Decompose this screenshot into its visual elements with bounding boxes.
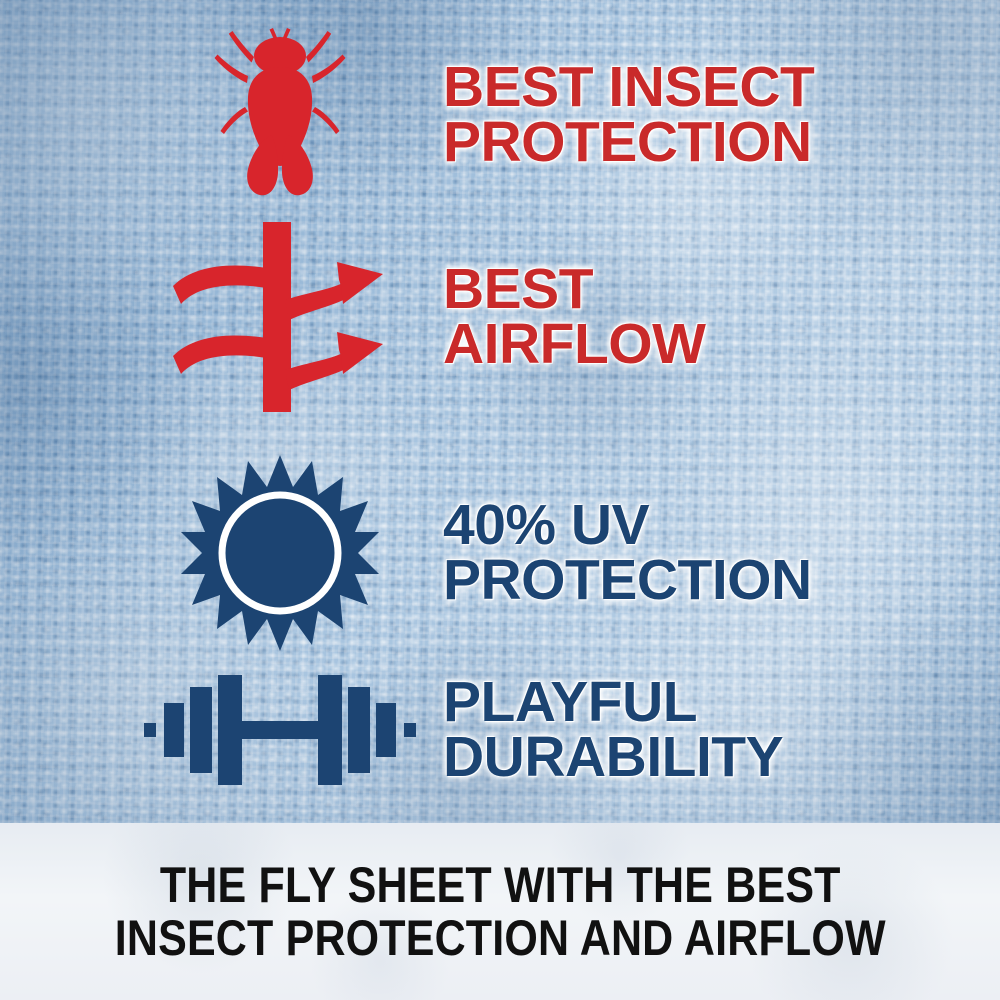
caption-headline: THE FLY SHEET WITH THE BEST INSECT PROTE… [115,859,886,965]
caption-banner: THE FLY SHEET WITH THE BEST INSECT PROTE… [0,823,1000,1000]
infographic-page: BEST INSECT PROTECTION [0,0,1000,1000]
icon-cell-insect-protection [130,27,430,202]
text-cell-airflow: BEST AIRFLOW [430,262,990,371]
sun-icon [180,453,380,653]
feature-row-airflow: BEST AIRFLOW [130,222,990,412]
feature-label-airflow: BEST AIRFLOW [443,262,990,371]
feature-label-uv-protection: 40% UV PROTECTION [443,498,990,607]
feature-row-durability: PLAYFUL DURABILITY [130,650,990,810]
dumbbell-icon [144,665,416,795]
icon-cell-airflow [130,222,430,412]
feature-label-durability: PLAYFUL DURABILITY [443,675,990,784]
text-cell-uv-protection: 40% UV PROTECTION [430,498,990,607]
text-cell-durability: PLAYFUL DURABILITY [430,675,990,784]
airflow-arrows-icon [171,222,389,412]
text-cell-insect-protection: BEST INSECT PROTECTION [430,60,990,169]
feature-row-uv-protection: 40% UV PROTECTION [130,440,990,665]
feature-row-insect-protection: BEST INSECT PROTECTION [130,22,990,207]
feature-label-insect-protection: BEST INSECT PROTECTION [443,60,990,169]
icon-cell-durability [130,665,430,795]
icon-cell-uv-protection [130,453,430,653]
fly-icon [210,27,350,202]
feature-list: BEST INSECT PROTECTION [0,0,1000,823]
